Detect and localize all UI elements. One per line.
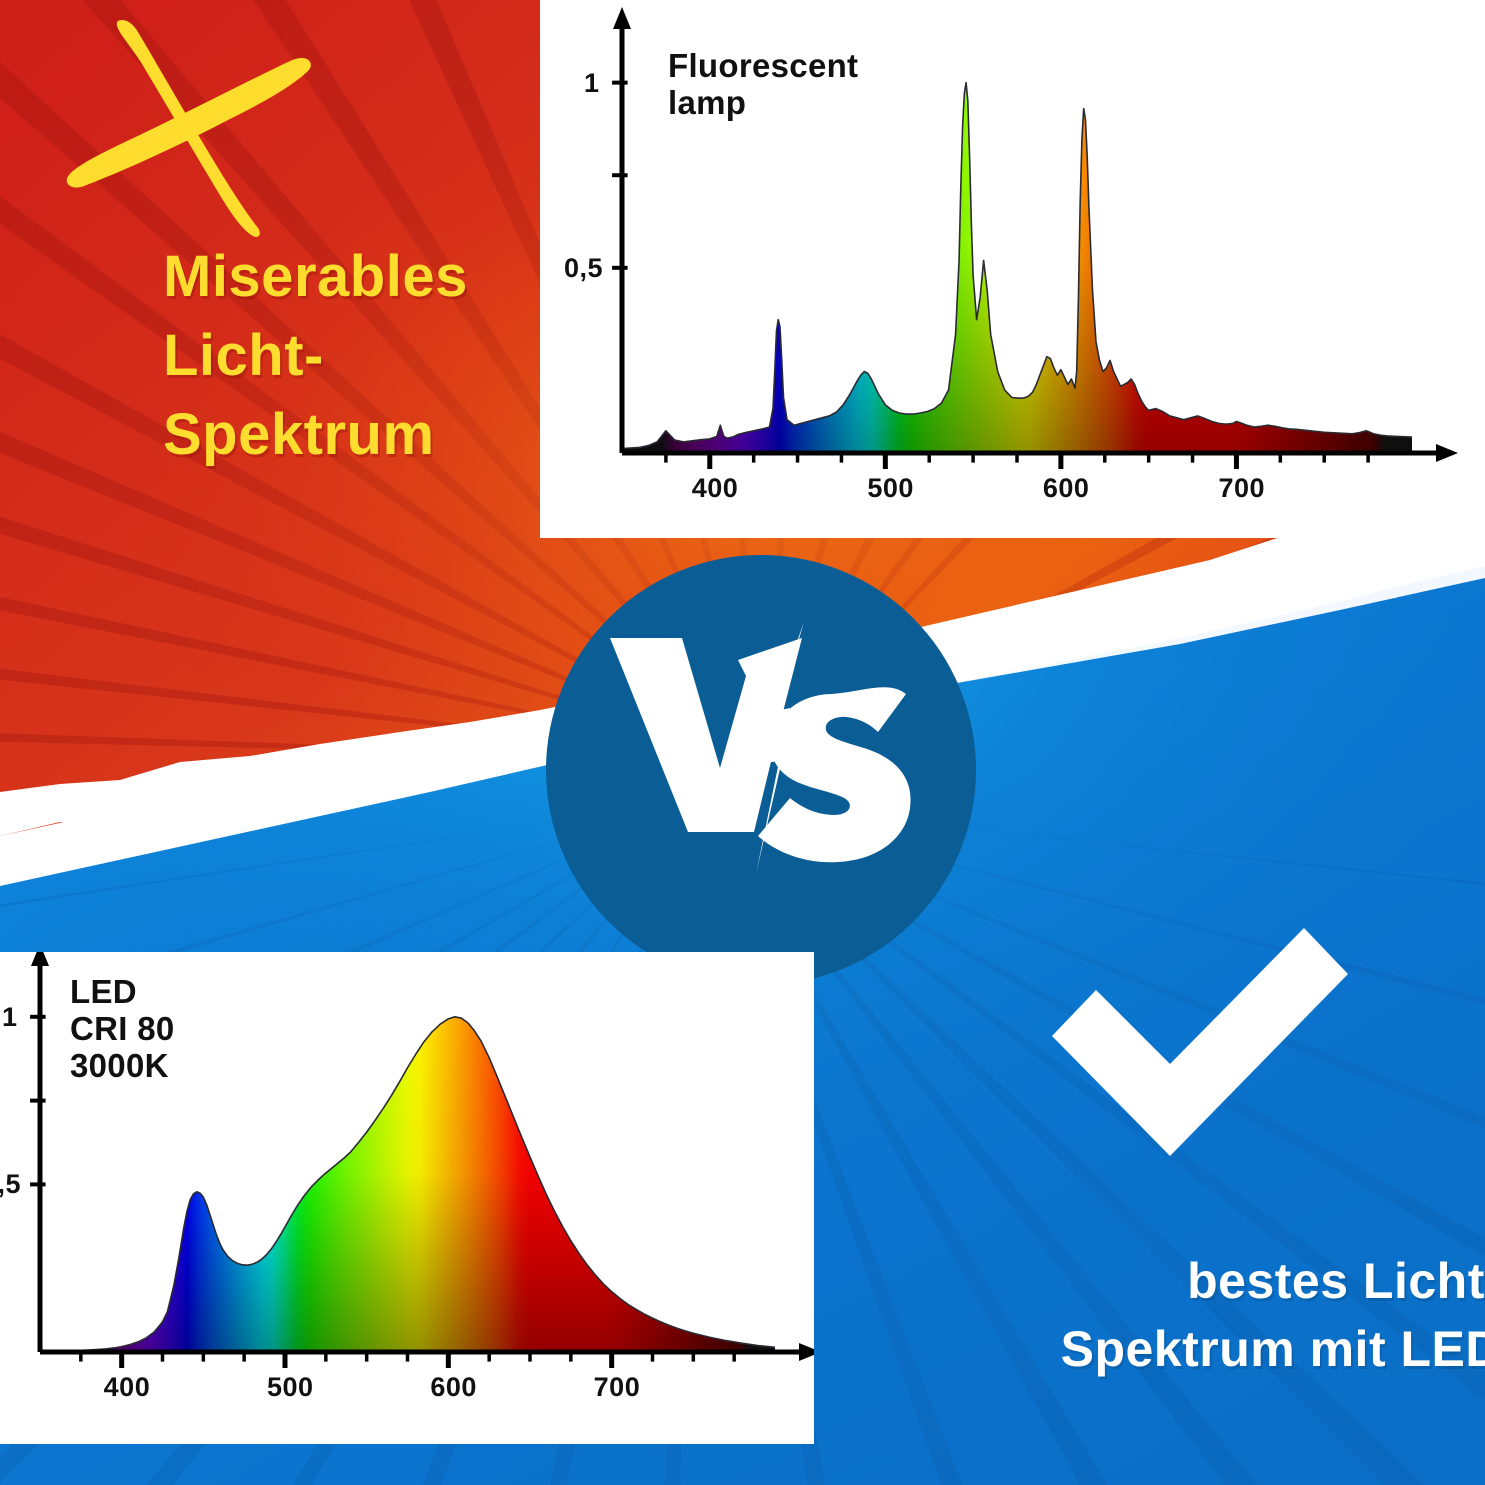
x-tick-label: 700 xyxy=(594,1372,641,1403)
y-tick-label: 0,5 xyxy=(0,1169,21,1200)
page-title-left: Miserables Licht- Spektrum xyxy=(163,238,583,475)
y-tick-label: 1 xyxy=(2,1002,18,1033)
comparison-banner: Miserables Licht- Spektrum bestes Licht-… xyxy=(0,0,1485,1485)
x-mark-icon xyxy=(62,18,324,240)
chart-led-spectrum: LED CRI 80 3000K 4005006007000,51 xyxy=(0,952,814,1444)
check-mark-icon xyxy=(1052,928,1348,1173)
vs-badge xyxy=(546,555,976,985)
page-title-right: bestes Licht- Spektrum mit LED xyxy=(902,1247,1485,1383)
x-tick-label: 500 xyxy=(867,473,914,504)
chart-fluorescent-spectrum: Fluorescent lamp 4005006007000,51 xyxy=(540,0,1485,538)
chart-title-led: LED CRI 80 3000K xyxy=(70,974,175,1085)
x-tick-label: 600 xyxy=(430,1372,477,1403)
y-tick-label: 0,5 xyxy=(564,253,603,284)
x-tick-label: 600 xyxy=(1043,473,1090,504)
x-tick-label: 400 xyxy=(104,1372,151,1403)
x-tick-label: 400 xyxy=(692,473,739,504)
x-tick-label: 500 xyxy=(267,1372,314,1403)
y-tick-label: 1 xyxy=(584,68,600,99)
chart-title-fluorescent: Fluorescent lamp xyxy=(668,48,858,122)
x-tick-label: 700 xyxy=(1218,473,1265,504)
